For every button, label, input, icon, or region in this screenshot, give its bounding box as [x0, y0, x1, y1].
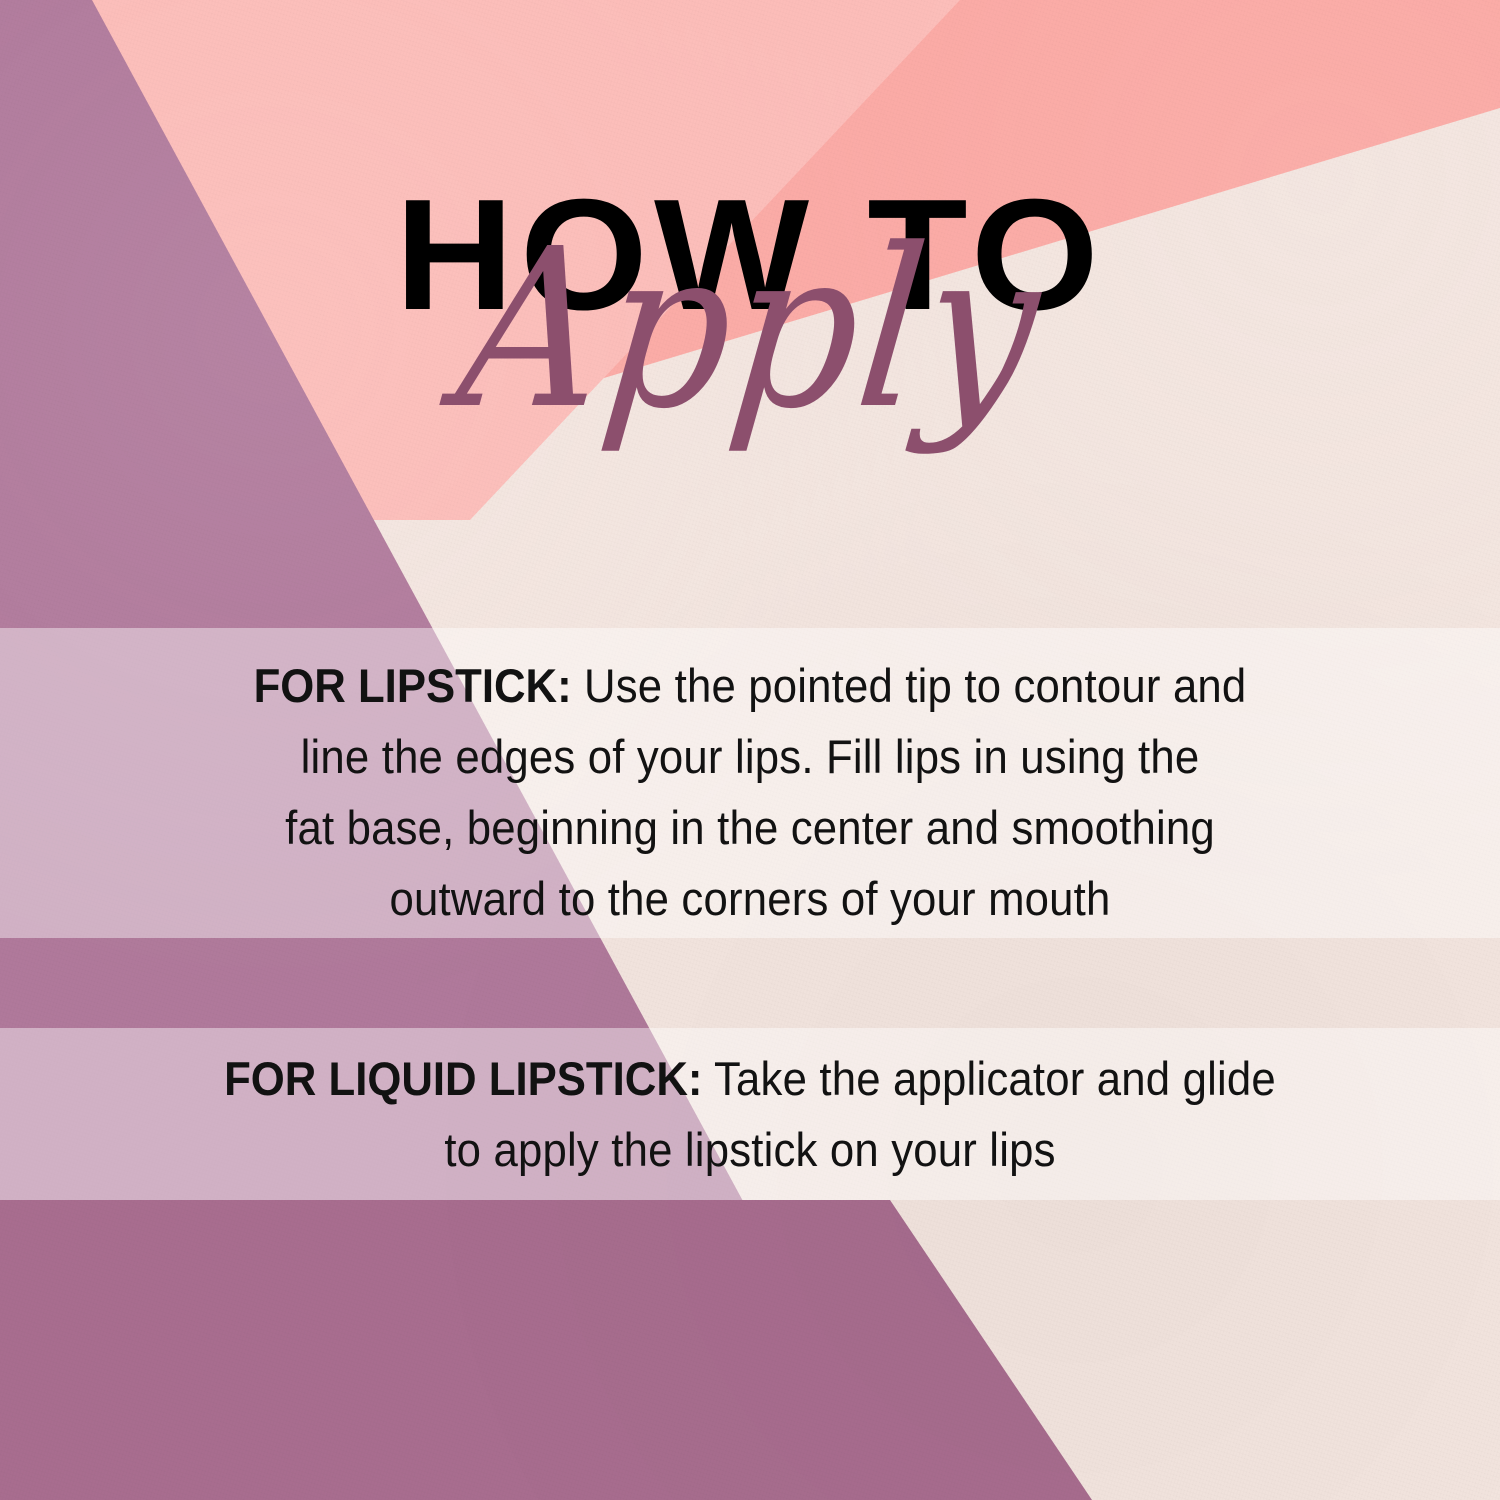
instructions-lipstick-line-1: FOR LIPSTICK: Use the pointed tip to con…: [53, 650, 1448, 721]
instructions-lipstick-line-4: outward to the corners of your mouth: [53, 863, 1448, 934]
instructions-liquid-lipstick-line-1: FOR LIQUID LIPSTICK: Take the applicator…: [53, 1043, 1448, 1114]
headline: HOW TO Apply: [0, 0, 1500, 520]
instructions-lipstick-line-1-rest: Use the pointed tip to contour and: [572, 659, 1247, 712]
instructions-liquid-lipstick: FOR LIQUID LIPSTICK: Take the applicator…: [53, 1043, 1448, 1185]
instructions-lipstick-line-2: line the edges of your lips. Fill lips i…: [53, 721, 1448, 792]
instructions-lipstick-lead: FOR LIPSTICK:: [254, 659, 572, 712]
instructions-liquid-lipstick-line-2: to apply the lipstick on your lips: [53, 1114, 1448, 1185]
how-to-apply-poster: HOW TO Apply FOR LIPSTICK: Use the point…: [0, 0, 1500, 1500]
headline-apply-script: Apply: [0, 220, 1500, 440]
instructions-liquid-lipstick-lead: FOR LIQUID LIPSTICK:: [224, 1052, 702, 1105]
instructions-lipstick: FOR LIPSTICK: Use the pointed tip to con…: [53, 650, 1448, 934]
instructions-liquid-lipstick-line-1-rest: Take the applicator and glide: [702, 1052, 1275, 1105]
instructions-lipstick-line-3: fat base, beginning in the center and sm…: [53, 792, 1448, 863]
